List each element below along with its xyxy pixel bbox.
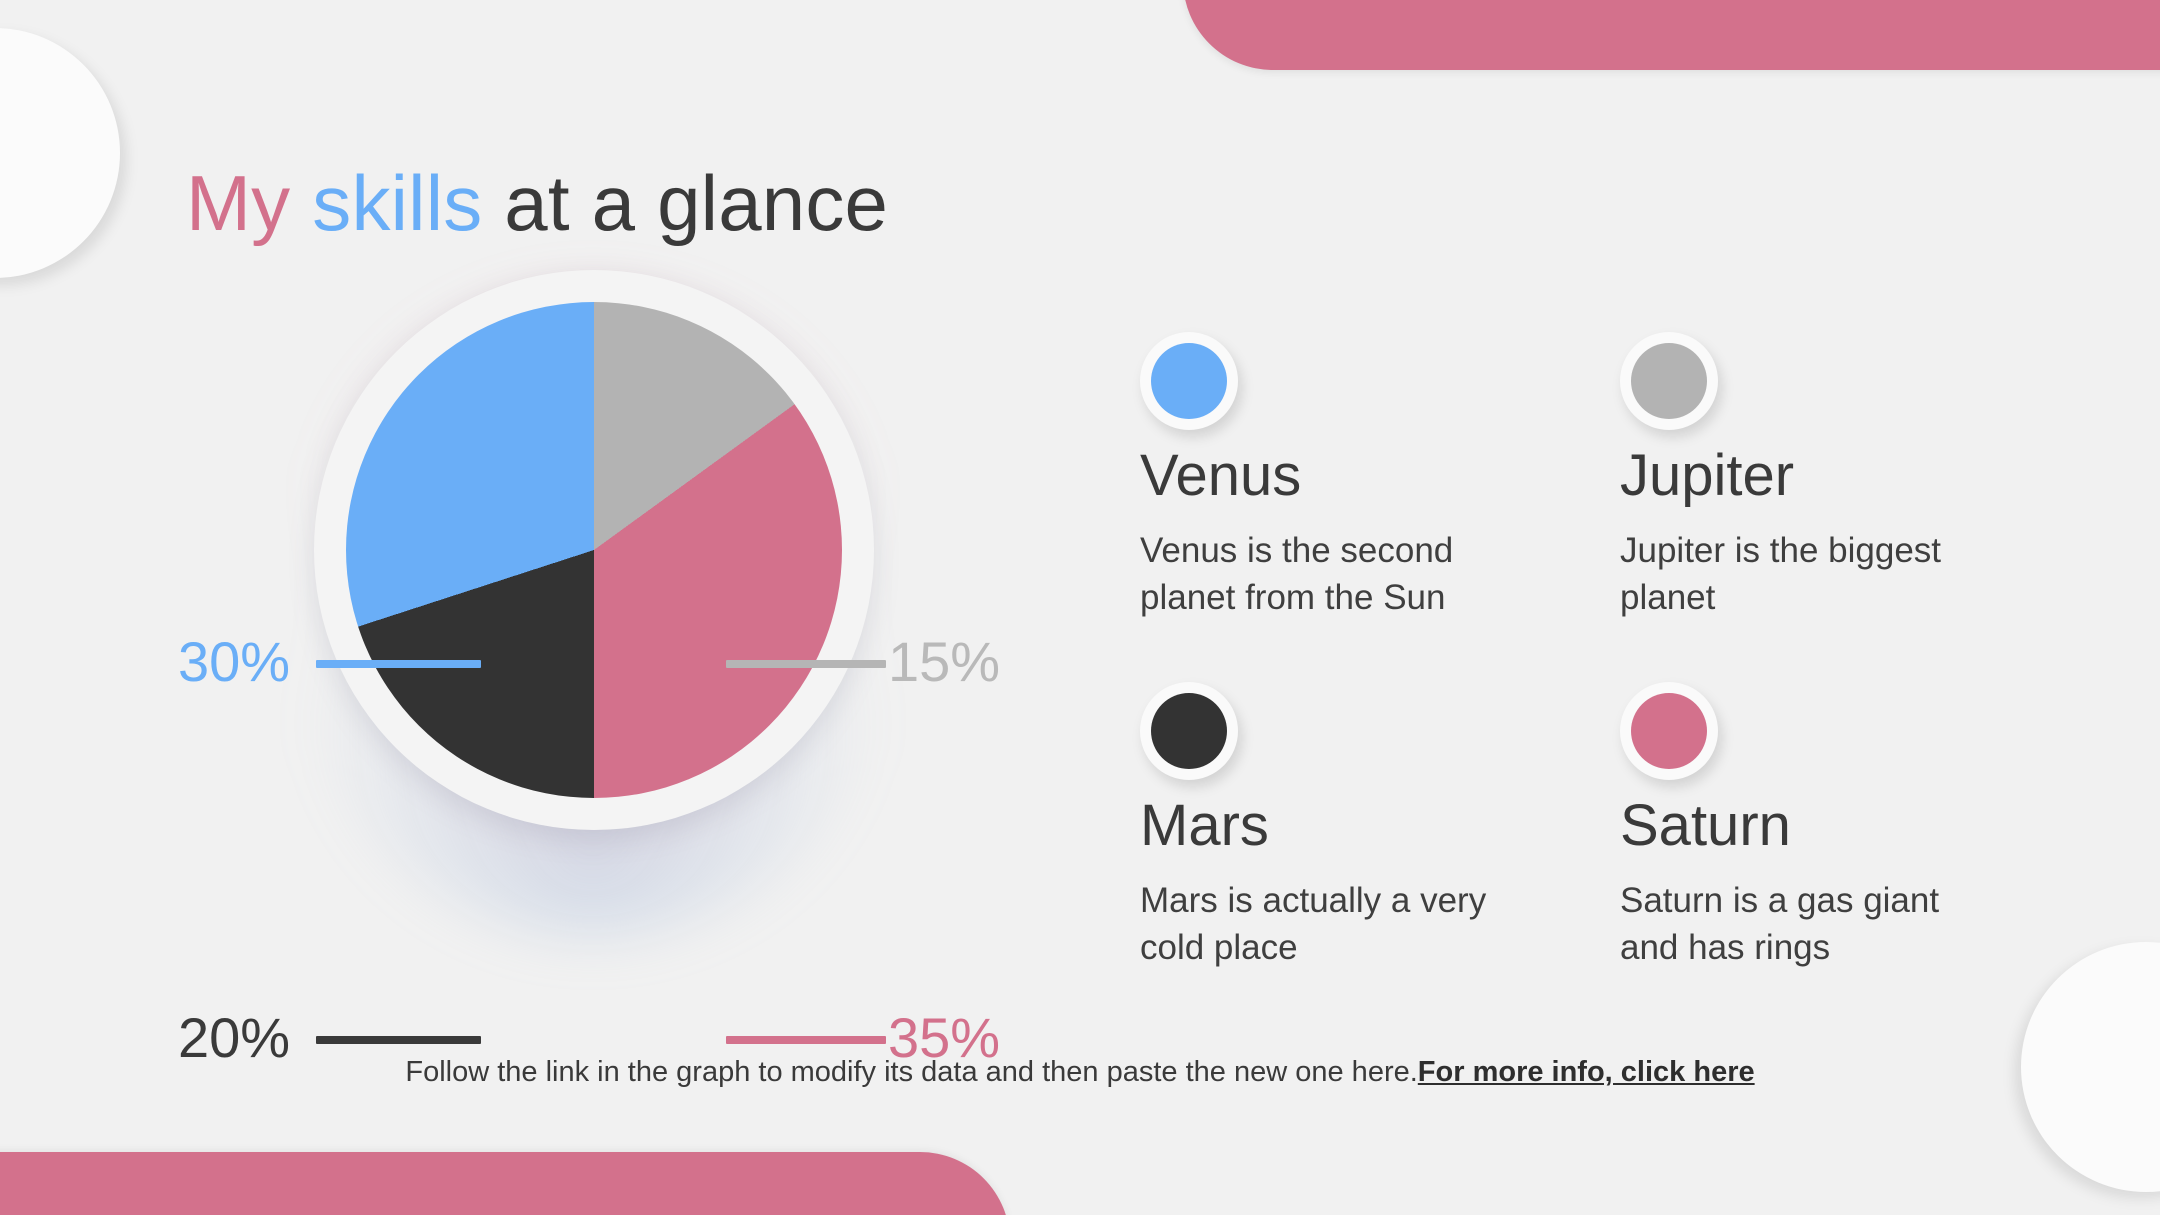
color-swatch-jupiter bbox=[1631, 343, 1707, 419]
decorative-bar-bottom-left bbox=[0, 1152, 1010, 1215]
color-swatch-saturn bbox=[1631, 693, 1707, 769]
title-part-rest: at a glance bbox=[482, 159, 888, 247]
legend-item-saturn[interactable]: Saturn Saturn is a gas giant and has rin… bbox=[1620, 682, 2040, 1032]
legend-desc-saturn: Saturn is a gas giant and has rings bbox=[1620, 877, 2000, 972]
footer: Follow the link in the graph to modify i… bbox=[0, 1056, 2160, 1089]
slide-canvas: My skills at a glance 30% 15% 20% 35% Ve… bbox=[0, 0, 2160, 1215]
legend-item-jupiter[interactable]: Jupiter Jupiter is the biggest planet bbox=[1620, 332, 2040, 682]
legend: Venus Venus is the second planet from th… bbox=[1140, 332, 2040, 992]
title-part-my: My bbox=[186, 159, 312, 247]
color-swatch-mars bbox=[1151, 693, 1227, 769]
legend-desc-venus: Venus is the second planet from the Sun bbox=[1140, 527, 1520, 622]
legend-title-saturn: Saturn bbox=[1620, 796, 2040, 857]
decorative-circle-top-left bbox=[0, 28, 120, 278]
leader-line-mars bbox=[316, 1036, 481, 1044]
pie-label-15: 15% bbox=[888, 634, 1000, 690]
decorative-bar-top-right bbox=[1183, 0, 2160, 70]
pie-slices[interactable] bbox=[346, 302, 842, 798]
legend-dot-mars bbox=[1140, 682, 1238, 780]
legend-item-venus[interactable]: Venus Venus is the second planet from th… bbox=[1140, 332, 1620, 682]
legend-title-mars: Mars bbox=[1140, 796, 1620, 857]
legend-dot-jupiter bbox=[1620, 332, 1718, 430]
leader-line-venus bbox=[316, 660, 481, 668]
leader-line-jupiter bbox=[726, 660, 886, 668]
legend-desc-jupiter: Jupiter is the biggest planet bbox=[1620, 527, 2000, 622]
page-title: My skills at a glance bbox=[186, 164, 888, 242]
pie-label-30: 30% bbox=[178, 634, 290, 690]
legend-dot-saturn bbox=[1620, 682, 1718, 780]
legend-desc-mars: Mars is actually a very cold place bbox=[1140, 877, 1520, 972]
title-part-skills: skills bbox=[312, 159, 482, 247]
legend-item-mars[interactable]: Mars Mars is actually a very cold place bbox=[1140, 682, 1620, 1032]
legend-dot-venus bbox=[1140, 332, 1238, 430]
pie-chart[interactable]: 30% 15% 20% 35% bbox=[198, 270, 958, 1010]
color-swatch-venus bbox=[1151, 343, 1227, 419]
footer-note: Follow the link in the graph to modify i… bbox=[405, 1056, 1417, 1088]
legend-title-jupiter: Jupiter bbox=[1620, 446, 2040, 507]
leader-line-saturn bbox=[726, 1036, 886, 1044]
footer-link[interactable]: For more info, click here bbox=[1418, 1056, 1755, 1088]
legend-title-venus: Venus bbox=[1140, 446, 1620, 507]
